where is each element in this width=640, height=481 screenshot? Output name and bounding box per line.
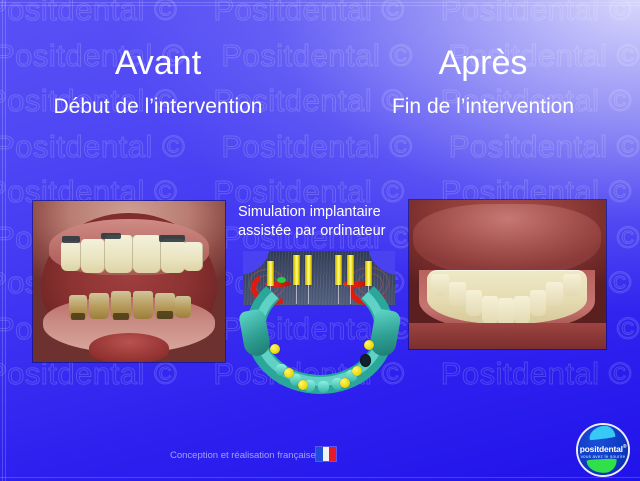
arch-inner-band	[254, 274, 386, 386]
french-flag-icon	[316, 447, 336, 461]
before-decay-area	[71, 313, 85, 320]
after-prosthetic-tooth	[482, 296, 498, 324]
arch-implant-marker	[270, 344, 280, 354]
column-title-before: Avant	[48, 44, 268, 83]
before-upper-tooth	[105, 235, 133, 273]
before-photo-tongue	[89, 333, 169, 362]
watermark-row: Positdental ©Positdental ©Positdental ©	[0, 0, 640, 28]
before-upper-tooth	[61, 241, 81, 271]
slide-canvas: Positdental ©Positdental ©Positdental ©P…	[0, 0, 640, 481]
after-prosthetic-tooth	[498, 298, 514, 326]
mandible-arch-render	[240, 312, 400, 398]
center-caption-line-1: Simulation implantaire	[238, 203, 404, 222]
before-lower-tooth	[133, 291, 153, 319]
after-photo	[409, 200, 606, 349]
watermark-text: Positdental ©	[441, 0, 632, 28]
frame-line-top	[0, 2, 640, 3]
after-prosthetic-tooth	[431, 274, 449, 296]
column-subtitle-before: Début de l’intervention	[18, 95, 298, 119]
logo-wordmark: positdental®	[578, 444, 628, 454]
after-prosthetic-tooth	[466, 290, 482, 316]
flag-band-white	[323, 447, 330, 461]
flag-band-blue	[316, 447, 323, 461]
watermark-row: Positdental ©Positdental ©Positdental ©	[0, 129, 640, 165]
logo-tagline: vous avez le sourire	[578, 454, 628, 459]
center-caption-line-2: assistée par ordinateur	[238, 222, 404, 241]
watermark-text: Positdental ©	[0, 0, 177, 28]
watermark-text: Positdental ©	[0, 129, 185, 165]
arch-implant-marker	[364, 340, 374, 350]
before-metal-restoration	[62, 236, 80, 243]
before-metal-restoration	[159, 235, 185, 242]
frame-line-left	[2, 0, 3, 481]
after-prosthetic-tooth	[563, 274, 581, 296]
after-prosthetic-tooth	[530, 290, 546, 316]
arch-tooth	[318, 381, 329, 393]
before-photo	[33, 201, 225, 362]
arch-implant-marker	[284, 368, 294, 378]
after-prosthetic-tooth	[514, 296, 530, 324]
center-caption: Simulation implantaire assistée par ordi…	[238, 203, 404, 241]
after-photo-lower-lip	[409, 323, 606, 349]
before-lower-tooth	[175, 296, 191, 318]
before-upper-tooth	[133, 235, 161, 273]
frame-line-bottom	[0, 477, 640, 478]
arch-implant-marker	[298, 380, 308, 390]
positdental-logo[interactable]: positdental® vous avez le sourire	[578, 425, 628, 475]
before-decay-area	[157, 311, 173, 319]
flag-band-red	[329, 447, 336, 461]
before-decay-area	[113, 313, 129, 320]
logo-registered-mark: ®	[623, 444, 626, 450]
watermark-text: Positdental ©	[221, 129, 412, 165]
watermark-text: Positdental ©	[213, 0, 404, 28]
arch-implant-marker	[352, 366, 362, 376]
before-upper-tooth	[183, 242, 203, 271]
watermark-text: Positdental ©	[441, 356, 632, 392]
column-subtitle-after: Fin de l’intervention	[343, 95, 623, 119]
column-title-after: Après	[373, 44, 593, 83]
watermark-text: Positdental ©	[449, 129, 640, 165]
arch-geometry	[240, 312, 400, 398]
before-lower-tooth	[89, 293, 109, 319]
logo-brand-text: positdental	[580, 444, 623, 454]
footer-credit-text: Conception et réalisation française	[170, 450, 380, 461]
after-prosthetic-tooth	[546, 282, 563, 306]
arch-osteotomy-hole	[360, 354, 371, 367]
before-upper-tooth	[81, 239, 105, 273]
before-metal-restoration	[101, 233, 121, 239]
frame-line-left-2	[5, 0, 6, 481]
after-photo-upper-gum	[413, 204, 601, 278]
frame-line-top-2	[0, 5, 640, 6]
after-prosthetic-tooth	[449, 282, 466, 306]
before-upper-tooth	[161, 239, 185, 273]
arch-implant-marker	[340, 378, 350, 388]
